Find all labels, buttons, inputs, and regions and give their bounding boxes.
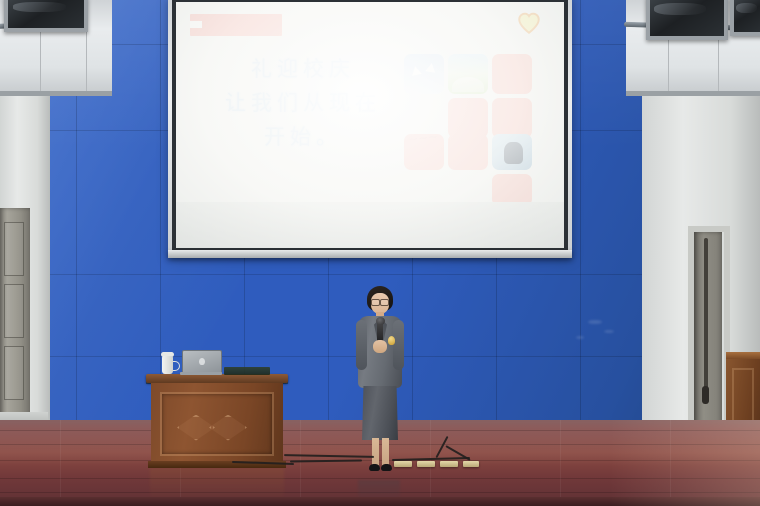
stage-front-edge [0, 497, 760, 506]
presenter-hands [373, 340, 387, 353]
screen-lower-band [176, 202, 564, 248]
microphone-head-icon [376, 317, 385, 325]
presenter-leg-right [382, 438, 389, 466]
slide-tile-grid [404, 54, 532, 190]
ceiling-display-far-right [730, 0, 760, 36]
slide-title-line-1: 礼迎校庆 [192, 52, 414, 86]
power-strip [463, 461, 479, 467]
slide-accent-bar-notch [190, 21, 202, 28]
laptop-logo [199, 358, 205, 365]
heart-icon [516, 10, 542, 36]
lectern [146, 374, 288, 468]
ceiling-display-left [4, 0, 88, 32]
projection-screen: 礼迎校庆 让我们从现在 开始。 [176, 2, 564, 248]
power-strip [440, 461, 458, 467]
presenter-shoe-left [369, 464, 380, 471]
door-right-handle [702, 386, 709, 404]
presenter-leg-left [372, 438, 379, 466]
slide-tile [448, 98, 488, 138]
ceiling-display-right [646, 0, 728, 40]
power-strip [417, 461, 435, 467]
brooch-icon [388, 336, 395, 345]
slide-tile [492, 54, 532, 94]
laptop-base [180, 372, 222, 375]
laptop[interactable] [180, 350, 222, 375]
slide-title-line-3: 开始。 [192, 120, 414, 154]
slide-photo-child [492, 134, 532, 170]
desk-cable-tray [224, 367, 270, 375]
laptop-lid [182, 350, 222, 374]
slide-photo-road [448, 54, 488, 94]
glasses-icon [371, 299, 389, 304]
presenter-shoe-right [381, 464, 392, 471]
slide-accent-bar [190, 14, 282, 36]
presentation-slide: 礼迎校庆 让我们从现在 开始。 [176, 2, 564, 202]
slide-photo-birds [404, 54, 444, 94]
door-right-strip [704, 238, 708, 390]
power-strip [394, 461, 412, 467]
photo-scene: 礼迎校庆 让我们从现在 开始。 [0, 0, 760, 506]
cup [162, 356, 173, 374]
screen-bottom-lip [168, 250, 572, 258]
slide-title: 礼迎校庆 让我们从现在 开始。 [192, 52, 414, 154]
slide-title-line-2: 让我们从现在 [192, 86, 414, 120]
door-left[interactable] [0, 208, 30, 426]
presenter [352, 286, 408, 478]
door-right-frame [688, 226, 730, 434]
slide-tile [492, 98, 532, 138]
presenter-skirt [362, 386, 398, 440]
lectern-top [146, 374, 288, 383]
presenter-arm-right [393, 320, 404, 370]
presenter-arm-left [356, 320, 367, 370]
lectern-body [151, 383, 283, 468]
